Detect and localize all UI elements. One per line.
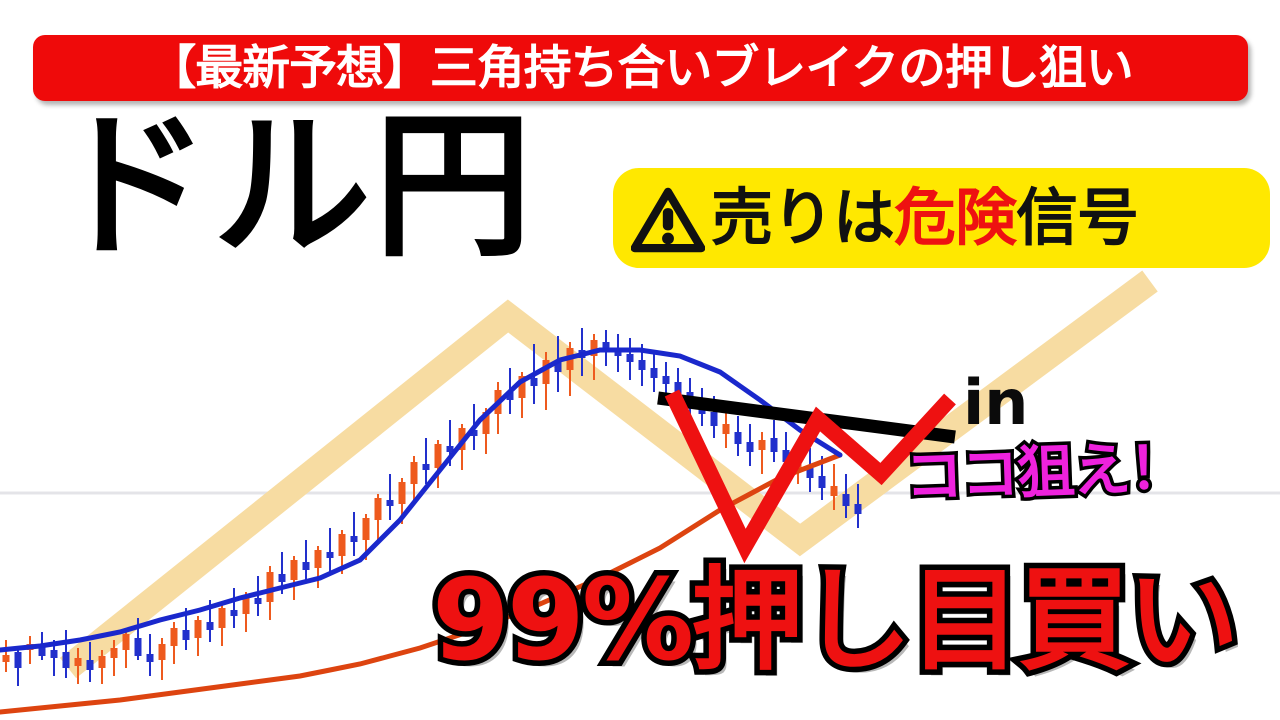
thumbnail-canvas: 【最新予想】三角持ち合いブレイクの押し狙い ドル円 売りは危険信号 in ココ狙… [0, 0, 1280, 720]
bottom-callout-text: 99%押し目買い [432, 565, 1236, 677]
target-zone-label: ココ狙え！ [904, 438, 1186, 506]
headline-banner: 【最新予想】三角持ち合いブレイクの押し狙い [33, 35, 1248, 101]
warning-seg-3: 信号 [1016, 181, 1138, 254]
warning-triangle-icon [631, 187, 705, 253]
entry-point-label: in [963, 372, 1028, 434]
warning-seg-2: 危険 [894, 181, 1016, 254]
headline-banner-text: 【最新予想】三角持ち合いブレイクの押し狙い [148, 45, 1132, 92]
warning-text: 売りは危険信号 [711, 187, 1138, 249]
warning-seg-1: 売りは [711, 181, 894, 254]
warning-badge: 売りは危険信号 [613, 168, 1270, 268]
page-title: ドル円 [52, 108, 535, 266]
